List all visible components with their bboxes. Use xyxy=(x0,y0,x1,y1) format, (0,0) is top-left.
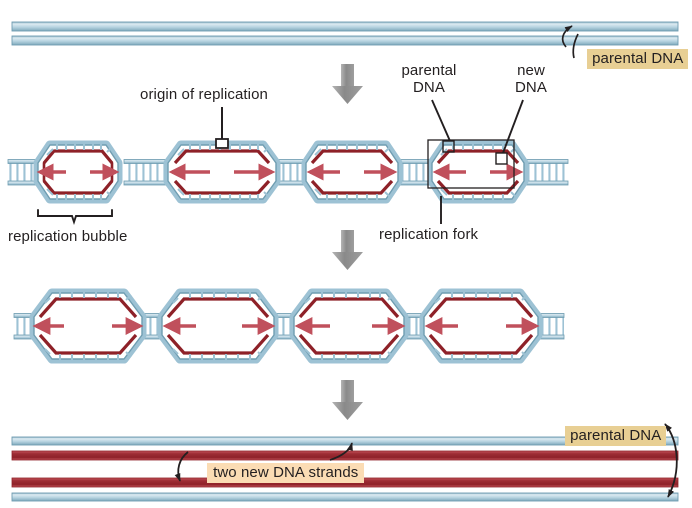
label-new-dna-callout: new DNA xyxy=(500,62,562,96)
stage-3-expanded-bubbles xyxy=(14,292,564,360)
figure-canvas: origin of replication parental DNA new D… xyxy=(0,0,692,508)
label-two-new-dna-strands-text: two new DNA strands xyxy=(207,463,364,483)
expanded-bubble-3 xyxy=(294,292,404,360)
label-origin-of-replication: origin of replication xyxy=(140,86,268,103)
label-replication-fork: replication fork xyxy=(379,226,478,243)
replication-bubble-3 xyxy=(306,144,398,200)
origin-of-replication-marker xyxy=(216,107,228,148)
expanded-bubble-4 xyxy=(424,292,538,360)
stage-2-small-bubbles xyxy=(8,100,568,224)
arrow-stage3-to-stage4 xyxy=(332,380,363,420)
arrow-stage2-to-stage3 xyxy=(332,230,363,270)
label-parental-dna-bottom-text: parental DNA xyxy=(565,426,666,446)
label-parental-dna-bottom: parental DNA xyxy=(548,410,666,461)
label-replication-bubble: replication bubble xyxy=(8,228,127,245)
label-parental-dna-top-text: parental DNA xyxy=(587,49,688,69)
label-parental-dna-callout: parental DNA xyxy=(383,62,475,96)
arrow-stage1-to-stage2 xyxy=(332,64,363,104)
expanded-bubble-1 xyxy=(34,292,142,360)
replication-bubble-2 xyxy=(168,144,276,200)
label-parental-dna-top: parental DNA xyxy=(570,33,688,84)
pointer-parental-dna-callout xyxy=(432,100,450,141)
replication-bubble-brace xyxy=(38,210,112,222)
expanded-bubble-2 xyxy=(162,292,274,360)
replication-bubble-1 xyxy=(38,144,118,200)
label-two-new-dna-strands: two new DNA strands xyxy=(190,447,364,498)
